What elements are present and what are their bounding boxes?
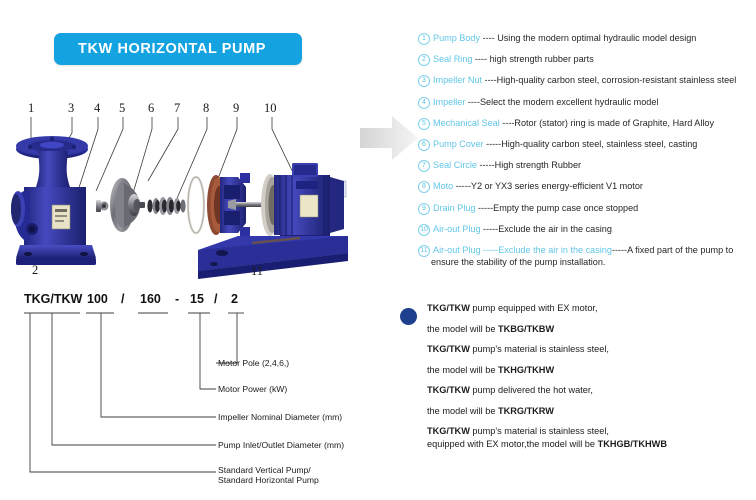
spec-dash: ----- (475, 203, 493, 213)
note-prefix: TKG/TKW (427, 426, 470, 436)
spec-desc: high strength rubber parts (490, 54, 594, 64)
spec-number: 8 (418, 181, 430, 193)
spec-item-7: 7Seal Circle -----High strength Rubber (418, 160, 754, 172)
note-text: pump delivered the hot water, (470, 385, 593, 395)
spec-dash-2: ----- (612, 245, 627, 255)
spec-dash: ---- (480, 33, 497, 43)
note-text: equipped with EX motor,the model will be (427, 439, 598, 449)
spec-desc: Using the modern optimal hydraulic model… (497, 33, 696, 43)
note-line: equipped with EX motor,the model will be… (400, 439, 756, 450)
spec-dash: ---- (465, 97, 480, 107)
spec-dash: ----- (453, 181, 471, 191)
spec-desc: Empty the pump case once stopped (493, 203, 638, 213)
callout-number: 5 (119, 101, 125, 116)
spec-item-10: 10Air-out Plug -----Exclude the air in t… (418, 224, 754, 236)
spec-name: Mechanical Seal (433, 118, 500, 128)
spec-dash: ---- (482, 75, 497, 85)
note-text: the model will be (427, 365, 498, 375)
note-model: TKBG/TKBW (498, 324, 554, 334)
spec-dash: ----- (481, 245, 499, 255)
spec-number: 10 (418, 224, 430, 236)
spec-number: 5 (418, 118, 430, 130)
spec-name: Air-out Plug (433, 224, 481, 234)
callout-number: 9 (233, 101, 239, 116)
spec-desc: High-quality carbon steel, stainless ste… (501, 139, 697, 149)
exploded-pump-illustration: 1 3 4 5 6 7 8 9 10 2 11 (0, 95, 360, 290)
note-text: pump's material is stainless steel, (470, 426, 609, 436)
callout-number: 4 (94, 101, 100, 116)
note-line: the model will be TKHG/TKHW (400, 365, 756, 376)
right-arrow-container (358, 112, 420, 164)
bullet-dot-icon (400, 308, 417, 325)
spec-desc: High strength Rubber (495, 160, 581, 170)
callout-number: 10 (264, 101, 277, 116)
spec-desc: Y2 or YX3 series energy-efficient V1 mot… (471, 181, 643, 191)
note-line: the model will be TKRG/TKRW (400, 406, 756, 417)
note-line: TKG/TKW pump's material is stainless ste… (400, 426, 756, 437)
note-text: pump equipped with EX motor, (470, 303, 598, 313)
note-text: the model will be (427, 406, 498, 416)
spec-number: 7 (418, 160, 430, 172)
spec-dash: ----- (484, 139, 502, 149)
nomenclature-label-inlet-outlet-diameter: Pump Inlet/Outlet Diameter (mm) (218, 440, 344, 451)
pump-assembly-drawing (0, 95, 360, 290)
note-prefix: TKG/TKW (427, 344, 470, 354)
note-model: TKHGB/TKHWB (598, 439, 667, 449)
spec-name: Drain Plug (433, 203, 475, 213)
spec-desc: High-quality carbon steel, corrosion-res… (497, 75, 737, 85)
poster-root: TKW HORIZONTAL PUMP (0, 0, 756, 500)
spec-name: Seal Circle (433, 160, 477, 170)
spec-number: 11 (418, 245, 430, 257)
component-spec-list: 1Pump Body ---- Using the modern optimal… (418, 33, 754, 277)
spec-number: 6 (418, 139, 430, 151)
note-model: TKHG/TKHW (498, 365, 554, 375)
note-line: TKG/TKW pump's material is stainless ste… (400, 344, 756, 355)
note-prefix: TKG/TKW (427, 385, 470, 395)
spec-dash: ----- (477, 160, 495, 170)
callout-number: 8 (203, 101, 209, 116)
spec-desc: Rotor (stator) ring is made of Graphite,… (514, 118, 714, 128)
right-arrow-icon (358, 112, 420, 164)
spec-name: Impeller Nut (433, 75, 482, 85)
note-prefix: TKG/TKW (427, 303, 470, 313)
spec-name: Moto (433, 181, 453, 191)
callout-number: 6 (148, 101, 154, 116)
spec-number: 2 (418, 54, 430, 66)
title-banner: TKW HORIZONTAL PUMP (54, 33, 302, 65)
spec-item-8: 8Moto -----Y2 or YX3 series energy-effic… (418, 181, 754, 193)
callout-number: 11 (251, 264, 263, 279)
note-line: the model will be TKBG/TKBW (400, 324, 756, 335)
spec-desc-line2: ensure the stability of the pump install… (431, 257, 754, 268)
note-text: pump's material is stainless steel, (470, 344, 609, 354)
spec-dash: ---- (472, 54, 489, 64)
nomenclature-leader-lines (0, 292, 390, 500)
nomenclature-label-motor-power: Motor Power (kW) (218, 384, 287, 395)
callout-number: 7 (174, 101, 180, 116)
nomenclature-label-pump-type-line1: Standard Vertical Pump/ (218, 465, 311, 476)
spec-desc: Exclude the air in the casing (498, 224, 612, 234)
spec-number: 3 (418, 75, 430, 87)
ex-motor-notes: TKG/TKW pump equipped with EX motor, the… (400, 303, 756, 460)
spec-item-6: 6Pump Cover -----High-quality carbon ste… (418, 139, 754, 151)
spec-desc: A fixed part of the pump to (627, 245, 733, 255)
spec-number: 1 (418, 33, 430, 45)
spec-item-2: 2Seal Ring ---- high strength rubber par… (418, 54, 754, 66)
spec-desc: Select the modern excellent hydraulic mo… (480, 97, 658, 107)
callout-number: 2 (32, 263, 38, 278)
note-line: TKG/TKW pump equipped with EX motor, (400, 303, 756, 314)
spec-name-desc: Exclude the air in the casing (498, 245, 612, 255)
note-line: TKG/TKW pump delivered the hot water, (400, 385, 756, 396)
spec-name: Seal Ring (433, 54, 472, 64)
callout-number: 3 (68, 101, 74, 116)
spec-dash: ---- (500, 118, 515, 128)
spec-name: Air-out Plug (433, 245, 481, 255)
model-nomenclature-diagram: TKG/TKW 100 / 160 - 15 / 2 Motor P (0, 292, 390, 500)
spec-number: 9 (418, 203, 430, 215)
spec-item-5: 5Mechanical Seal ----Rotor (stator) ring… (418, 118, 754, 130)
nomenclature-label-motor-pole: Motor Pole (2,4,6,) (218, 358, 289, 369)
spec-item-1: 1Pump Body ---- Using the modern optimal… (418, 33, 754, 45)
spec-item-9: 9Drain Plug -----Empty the pump case onc… (418, 203, 754, 215)
callout-number: 1 (28, 101, 34, 116)
spec-name: Pump Body (433, 33, 480, 43)
spec-item-4: 4Impeller ----Select the modern excellen… (418, 97, 754, 109)
nomenclature-label-pump-type-line2: Standard Horizontal Pump (218, 475, 319, 486)
spec-dash: ----- (481, 224, 499, 234)
note-text: the model will be (427, 324, 498, 334)
spec-number: 4 (418, 97, 430, 109)
spec-item-11: 11Air-out Plug -----Exclude the air in t… (418, 245, 754, 268)
spec-item-3: 3Impeller Nut ----High-quality carbon st… (418, 75, 754, 87)
nomenclature-label-impeller-diameter: Impeller Nominal Diameter (mm) (218, 412, 342, 423)
spec-name: Pump Cover (433, 139, 484, 149)
spec-name: Impeller (433, 97, 465, 107)
page-title: TKW HORIZONTAL PUMP (54, 41, 266, 57)
note-model: TKRG/TKRW (498, 406, 554, 416)
